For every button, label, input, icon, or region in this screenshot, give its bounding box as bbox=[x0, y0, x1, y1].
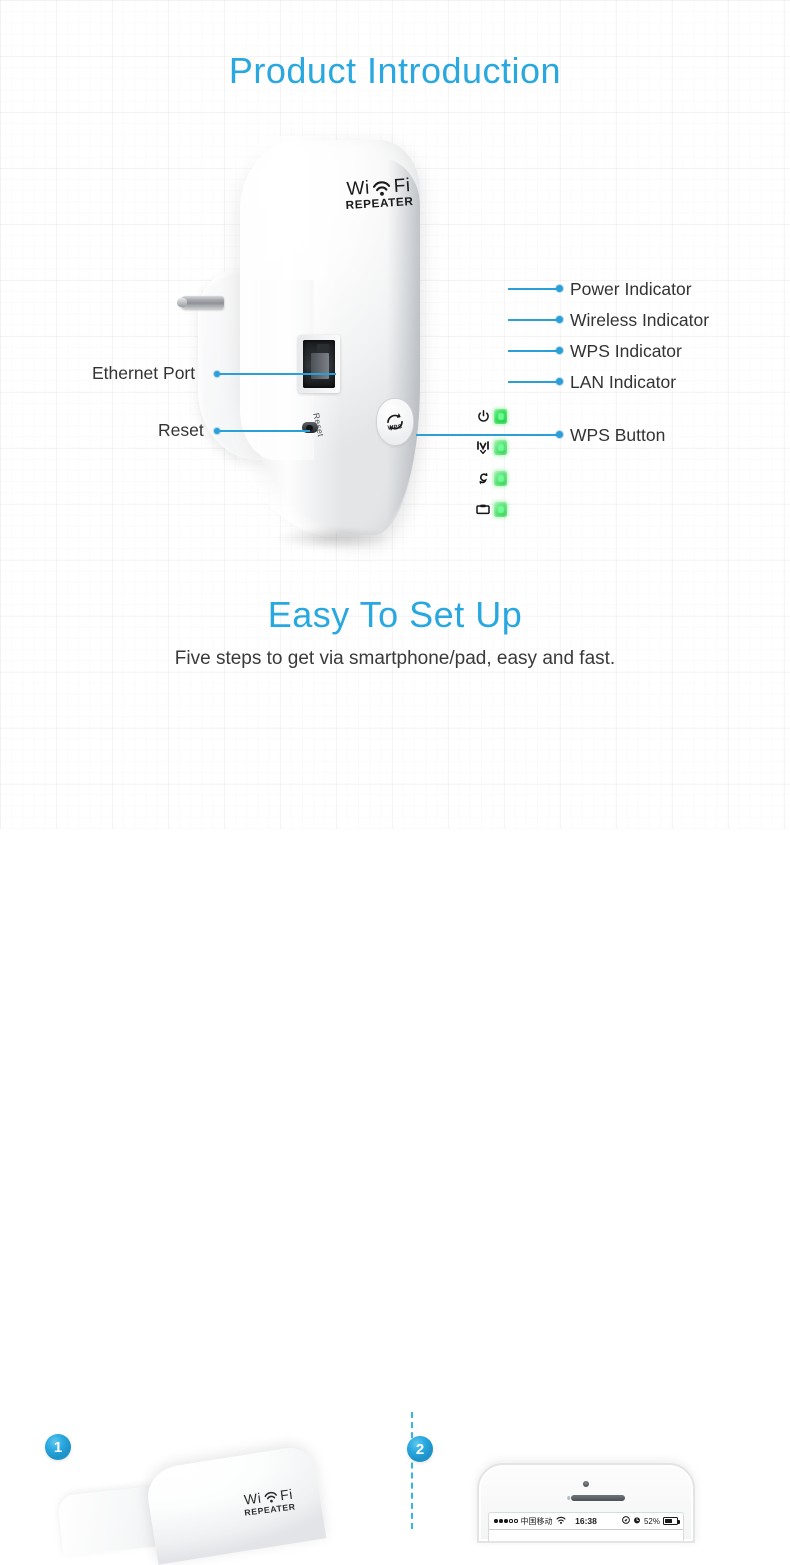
carrier-name: 中国移动 bbox=[521, 1516, 553, 1527]
ethernet-port-notch bbox=[317, 344, 329, 353]
step1-device-logo: Wi Fi REPEATER bbox=[225, 1484, 313, 1519]
callout-label-reset: Reset bbox=[158, 420, 204, 441]
status-bar-right: 52% bbox=[622, 1516, 678, 1526]
battery-percent-label: 52% bbox=[644, 1517, 660, 1526]
phone-front-camera bbox=[583, 1481, 589, 1487]
power-led-row bbox=[475, 405, 507, 427]
callout-label-power-indicator: Power Indicator bbox=[570, 279, 692, 300]
wps-led bbox=[494, 471, 507, 486]
logo-text-wi: Wi bbox=[346, 179, 370, 199]
callout-dot-power bbox=[556, 285, 563, 292]
signal-strength-icon bbox=[494, 1519, 518, 1523]
callout-label-wireless-indicator: Wireless Indicator bbox=[570, 310, 709, 331]
wifi-arc-icon bbox=[262, 1489, 279, 1505]
wps-arrows-icon bbox=[475, 470, 491, 486]
wireless-led bbox=[494, 440, 507, 455]
wireless-antenna-icon bbox=[475, 439, 491, 455]
wifi-icon bbox=[556, 1516, 566, 1526]
battery-icon bbox=[663, 1517, 678, 1525]
lan-led-row bbox=[475, 498, 507, 520]
callout-dot-lan bbox=[556, 378, 563, 385]
page-title-easy-to-set-up: Easy To Set Up bbox=[0, 594, 790, 636]
status-bar-clock: 16:38 bbox=[575, 1516, 597, 1526]
callout-dot-wps-indicator bbox=[556, 347, 563, 354]
ethernet-port-cavity bbox=[303, 340, 335, 388]
phone-earpiece-speaker bbox=[571, 1495, 625, 1501]
wps-led-row bbox=[475, 467, 507, 489]
device-brand-logo: Wi Fi REPEATER bbox=[319, 174, 439, 213]
callout-line-wps-indicator bbox=[508, 350, 560, 352]
step-1-badge: 1 bbox=[45, 1434, 71, 1460]
wps-button-label: WPS bbox=[387, 424, 402, 431]
phone-status-bar: 中国移动 16:38 bbox=[489, 1513, 683, 1529]
lan-led bbox=[494, 502, 507, 517]
wps-arrows-icon bbox=[375, 397, 416, 447]
callout-label-wps-indicator: WPS Indicator bbox=[570, 341, 682, 362]
ethernet-port[interactable] bbox=[298, 335, 340, 393]
step1-logo-text-fi: Fi bbox=[279, 1487, 293, 1502]
device-body-edge-shading bbox=[376, 158, 420, 528]
step1-logo-text-wi: Wi bbox=[243, 1491, 262, 1507]
power-plug-prong-tip bbox=[177, 298, 187, 307]
device-drop-shadow bbox=[250, 528, 415, 554]
steps-section: 1 2 Wi Fi REPEATER bbox=[0, 700, 790, 829]
callout-label-wps-button: WPS Button bbox=[570, 425, 665, 446]
logo-text-fi: Fi bbox=[393, 176, 411, 196]
callout-line-wps-button bbox=[416, 434, 560, 436]
status-bar-left: 中国移动 bbox=[494, 1516, 566, 1527]
ethernet-port-contacts bbox=[311, 353, 329, 379]
wifi-arc-icon bbox=[371, 177, 392, 197]
step-2-badge: 2 bbox=[407, 1436, 433, 1462]
wireless-led-row bbox=[475, 436, 507, 458]
step1-device-front: Wi Fi REPEATER bbox=[144, 1444, 327, 1564]
callout-dot-wireless bbox=[556, 316, 563, 323]
location-arrow-icon bbox=[622, 1516, 630, 1526]
page-title-product-introduction: Product Introduction bbox=[0, 50, 790, 92]
phone-screen[interactable]: 中国移动 16:38 bbox=[488, 1512, 684, 1541]
callout-label-lan-indicator: LAN Indicator bbox=[570, 372, 676, 393]
infographic-page: Product Introduction Wi Fi bbox=[0, 0, 790, 829]
power-led bbox=[494, 409, 507, 424]
callout-line-reset bbox=[220, 430, 310, 432]
wps-button[interactable]: WPS bbox=[376, 398, 414, 446]
callout-label-ethernet-port: Ethernet Port bbox=[92, 363, 195, 384]
callout-line-power bbox=[508, 288, 560, 290]
step2-smartphone: 中国移动 16:38 bbox=[477, 1463, 695, 1543]
callout-line-ethernet-port bbox=[220, 373, 336, 375]
page-subtitle-steps: Five steps to get via smartphone/pad, ea… bbox=[0, 648, 790, 670]
callout-dot-wps-button bbox=[556, 431, 563, 438]
callout-line-lan bbox=[508, 381, 560, 383]
status-bar-separator bbox=[489, 1529, 683, 1530]
steps-divider bbox=[411, 1412, 413, 1529]
product-illustration: Wi Fi REPEATER Reset bbox=[180, 130, 480, 550]
alarm-icon bbox=[633, 1516, 641, 1526]
callout-line-wireless bbox=[508, 319, 560, 321]
power-icon bbox=[475, 408, 491, 424]
lan-port-icon bbox=[475, 501, 491, 517]
